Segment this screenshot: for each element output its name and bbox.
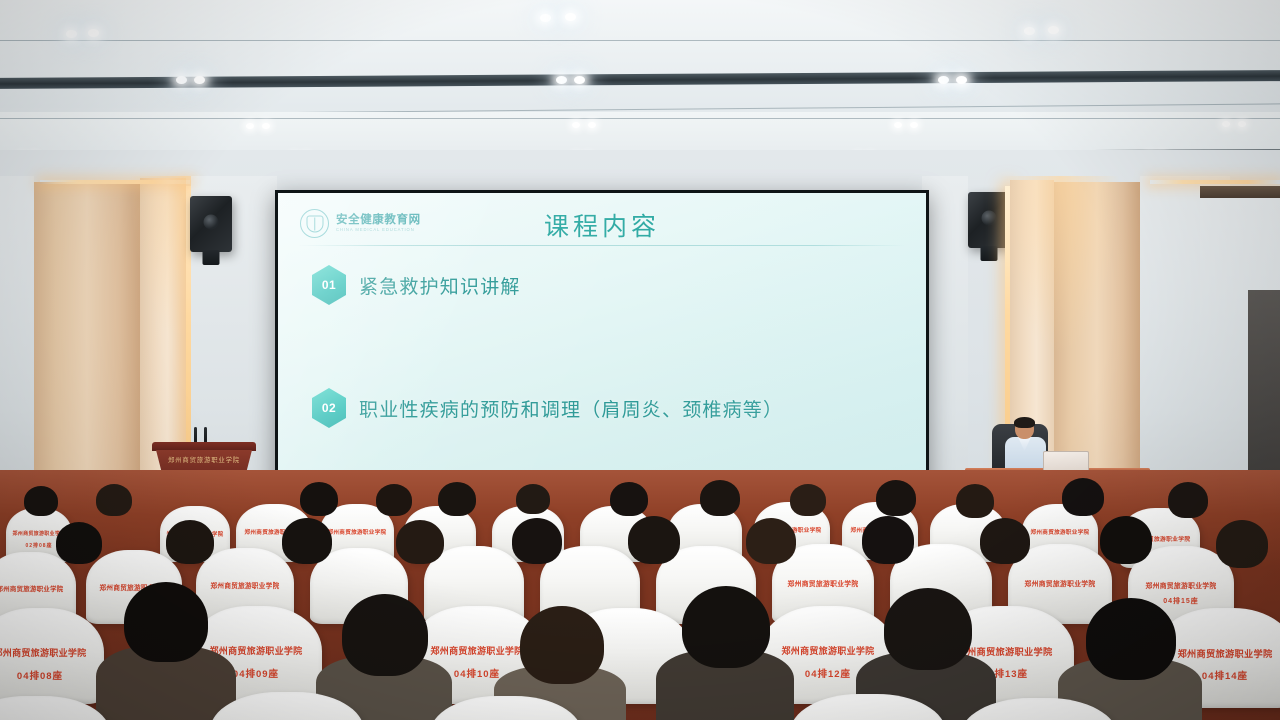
speaker-left [190,196,232,252]
wall-panel-left [0,176,34,506]
microphone [204,427,207,443]
audience-head [342,594,428,676]
ceiling-light [910,122,918,128]
item-number-badge: 01 [312,265,346,305]
chair-school-label: 郑州商贸旅游职业学院 [0,646,104,659]
wall-trim-right [1200,186,1280,198]
chair-school-label: 郑州商贸旅游职业学院 [1128,580,1234,590]
audience-head [300,482,338,516]
slide-title: 课程内容 [278,207,926,243]
chair-school-label: 郑州商贸旅游职业学院 [1008,578,1112,588]
audience-head [376,484,412,516]
ceiling-light [1222,121,1230,127]
led-accent-right-top [1150,180,1280,184]
projection-screen: 安全健康教育网 CHINA MEDICAL EDUCATION 课程内容 01 … [275,190,929,496]
item-text: 职业性疾病的预防和调理（肩周炎、颈椎病等） [359,395,783,422]
ceiling-light [556,76,567,84]
audience-head [438,482,476,516]
ceiling-light [176,76,187,84]
slide-item-01: 01 紧急救护知识讲解 [312,265,521,305]
ceiling-light [956,76,967,84]
lecture-hall-photo: 安全健康教育网 CHINA MEDICAL EDUCATION 课程内容 01 … [0,0,1280,720]
audience-head [628,516,680,564]
chair-school-label: 郑州商贸旅游职业学院 [760,644,896,657]
chair-school-label: 郑州商贸旅游职业学院 [0,584,76,593]
ceiling-light [194,76,205,84]
audience-head [1100,516,1152,564]
slide-item-02: 02 职业性疾病的预防和调理（肩周炎、颈椎病等） [312,388,783,428]
speaker-right [968,192,1010,248]
led-accent-left-top [40,180,190,184]
chair-school-label: 郑州商贸旅游职业学院 [1022,528,1098,536]
chair-row04: 郑州商贸旅游职业学院 04排08座 [0,608,104,704]
ceiling-light [88,29,99,37]
chair-school-label: 郑州商贸旅游职业学院 [772,578,874,588]
chair-school-label: 郑州商贸旅游职业学院 [196,580,294,590]
title-divider [298,245,906,246]
wood-panel-left [34,182,140,508]
ceiling-light [66,30,77,38]
ceiling-light [1024,27,1035,35]
microphone [194,427,197,443]
ceiling-light [588,122,596,128]
slide-content: 安全健康教育网 CHINA MEDICAL EDUCATION 课程内容 01 … [278,193,926,493]
audience-head [980,518,1030,564]
ceiling-light [938,76,949,84]
audience-head [1216,520,1268,568]
chair-seat-label: 04排08座 [0,668,104,682]
audience-head [124,582,208,662]
audience-head [56,522,102,564]
ceiling-light [1238,121,1246,127]
audience-head [610,482,648,516]
item-text: 紧急救护知识讲解 [359,272,521,299]
audience-head [682,586,770,668]
ceiling-light [246,123,254,129]
ceiling-light [894,122,902,128]
ceiling-light [262,123,270,129]
ceiling-light [574,76,585,84]
audience-head [396,520,444,564]
audience-area: 郑州商贸旅游职业学院 02排08座 郑州商贸旅游职业学院 02排08座 郑州商贸… [0,470,1280,720]
item-number-badge: 02 [312,388,346,428]
audience-head [1086,598,1176,680]
audience-head [520,606,604,684]
audience-head [746,518,796,564]
audience-head [282,518,332,564]
ceiling-light [1048,26,1059,34]
audience-head [24,486,58,516]
audience-head [790,484,826,516]
audience-head [1062,478,1104,516]
audience-head [956,484,994,518]
podium-school-label: 郑州商贸旅游职业学院 [152,455,256,464]
audience-head [1168,482,1208,518]
audience-head [166,520,214,564]
audience-head [862,516,914,564]
audience-head [700,480,740,516]
audience-head [512,518,562,564]
audience-head [884,588,972,670]
ceiling-light [565,13,576,21]
audience-head [516,484,550,514]
audience-head [876,480,916,516]
ceiling-light [572,122,580,128]
ceiling-light [540,14,551,22]
audience-head [96,484,132,516]
